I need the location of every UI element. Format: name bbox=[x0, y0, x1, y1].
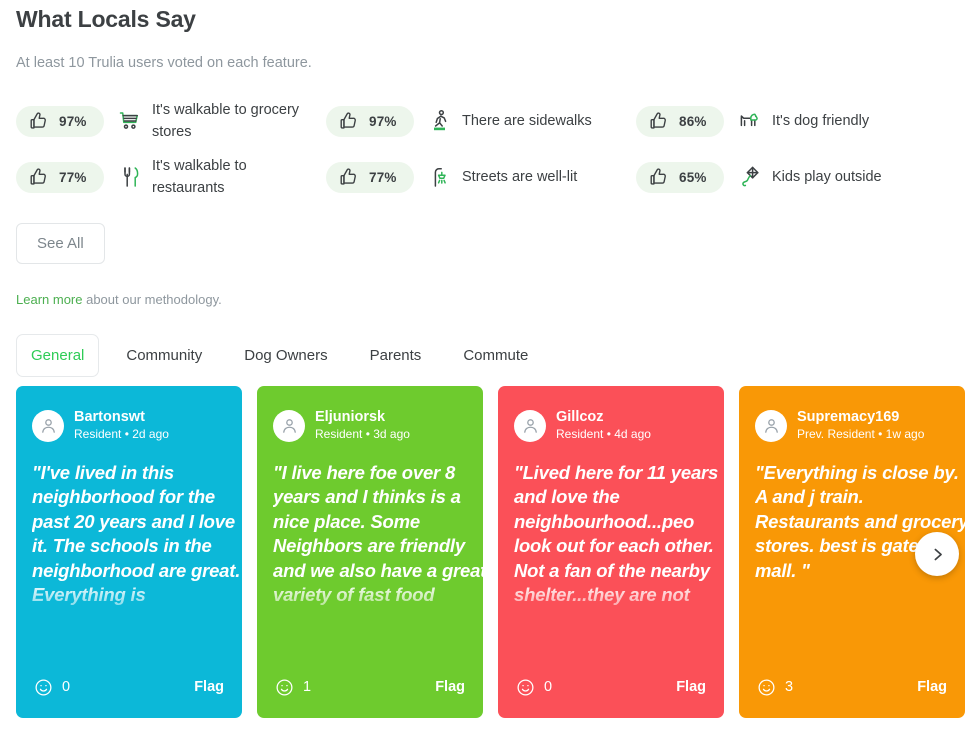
thumbs-up-icon bbox=[648, 166, 670, 188]
feature-vote-item: 97%It's walkable to grocery stores bbox=[16, 99, 326, 144]
feature-vote-pill: 97% bbox=[16, 106, 104, 137]
review-username: Bartonswt bbox=[74, 409, 145, 425]
feature-vote-percent: 86% bbox=[679, 114, 707, 129]
review-meta: Prev. Resident • 1w ago bbox=[797, 426, 924, 443]
reaction-button[interactable]: 0 bbox=[516, 678, 552, 697]
review-username: Supremacy169 bbox=[797, 409, 899, 425]
avatar bbox=[514, 410, 546, 442]
chevron-right-icon bbox=[929, 546, 946, 563]
thumbs-up-icon bbox=[28, 166, 50, 188]
smiley-icon bbox=[757, 678, 776, 697]
feature-vote-item: 86%It's dog friendly bbox=[636, 106, 946, 137]
review-category-tabs: GeneralCommunityDog OwnersParentsCommute bbox=[16, 334, 956, 377]
review-meta: Resident • 3d ago bbox=[315, 426, 410, 443]
review-card[interactable]: EljuniorskResident • 3d ago"I live here … bbox=[257, 386, 483, 718]
review-meta: Resident • 4d ago bbox=[556, 426, 651, 443]
methodology-text: about our methodology. bbox=[82, 292, 221, 307]
what-locals-say-section: What Locals Say At least 10 Trulia users… bbox=[0, 0, 972, 735]
reaction-count: 1 bbox=[303, 679, 311, 695]
review-meta: Resident • 2d ago bbox=[74, 426, 169, 443]
thumbs-up-icon bbox=[648, 110, 670, 132]
feature-vote-pill: 97% bbox=[326, 106, 414, 137]
feature-vote-item: 97%There are sidewalks bbox=[326, 106, 636, 137]
review-card[interactable]: GillcozResident • 4d ago"Lived here for … bbox=[498, 386, 724, 718]
review-quote: "I've lived in this neighborhood for the… bbox=[32, 461, 242, 636]
review-card[interactable]: BartonswtResident • 2d ago"I've lived in… bbox=[16, 386, 242, 718]
feature-vote-percent: 77% bbox=[369, 170, 397, 185]
review-author: Supremacy169Prev. Resident • 1w ago bbox=[739, 386, 965, 444]
review-footer: 0Flag bbox=[498, 656, 724, 718]
reaction-count: 3 bbox=[785, 679, 793, 695]
reaction-button[interactable]: 1 bbox=[275, 678, 311, 697]
feature-vote-pill: 77% bbox=[326, 162, 414, 193]
person-icon bbox=[521, 416, 540, 435]
feature-vote-pill: 86% bbox=[636, 106, 724, 137]
feature-label: It's walkable to restaurants bbox=[152, 155, 302, 200]
feature-label: Kids play outside bbox=[772, 166, 882, 188]
feature-vote-pill: 65% bbox=[636, 162, 724, 193]
page-subtitle: At least 10 Trulia users voted on each f… bbox=[16, 55, 956, 71]
review-author: EljuniorskResident • 3d ago bbox=[257, 386, 483, 444]
smiley-icon bbox=[275, 678, 294, 697]
review-quote: "Lived here for 11 years and love the ne… bbox=[514, 461, 724, 636]
reaction-button[interactable]: 0 bbox=[34, 678, 70, 697]
review-footer: 3Flag bbox=[739, 656, 965, 718]
reaction-count: 0 bbox=[62, 679, 70, 695]
streetlamp-icon bbox=[427, 164, 453, 190]
review-card-carousel: BartonswtResident • 2d ago"I've lived in… bbox=[16, 386, 972, 718]
methodology-note: Learn more about our methodology. bbox=[16, 292, 956, 307]
carousel-next-button[interactable] bbox=[915, 532, 959, 576]
feature-vote-item: 77%It's walkable to restaurants bbox=[16, 155, 326, 200]
avatar bbox=[273, 410, 305, 442]
review-quote: "I live here foe over 8 years and I thin… bbox=[273, 461, 483, 636]
review-footer: 1Flag bbox=[257, 656, 483, 718]
review-author: BartonswtResident • 2d ago bbox=[16, 386, 242, 444]
review-username: Eljuniorsk bbox=[315, 409, 385, 425]
shopping-cart-icon bbox=[117, 108, 143, 134]
walking-person-icon bbox=[427, 108, 453, 134]
feature-vote-grid: 97%It's walkable to grocery stores97%The… bbox=[16, 93, 956, 205]
kite-icon bbox=[737, 164, 763, 190]
smiley-icon bbox=[34, 678, 53, 697]
reaction-button[interactable]: 3 bbox=[757, 678, 793, 697]
flag-button[interactable]: Flag bbox=[194, 679, 224, 695]
feature-label: It's walkable to grocery stores bbox=[152, 99, 302, 144]
feature-vote-percent: 97% bbox=[59, 114, 87, 129]
feature-vote-percent: 97% bbox=[369, 114, 397, 129]
tab-commute[interactable]: Commute bbox=[448, 334, 543, 377]
avatar bbox=[755, 410, 787, 442]
thumbs-up-icon bbox=[338, 110, 360, 132]
feature-label: There are sidewalks bbox=[462, 110, 592, 132]
feature-vote-item: 65%Kids play outside bbox=[636, 162, 946, 193]
see-all-button[interactable]: See All bbox=[16, 223, 105, 264]
feature-vote-pill: 77% bbox=[16, 162, 104, 193]
tab-parents[interactable]: Parents bbox=[355, 334, 437, 377]
flag-button[interactable]: Flag bbox=[676, 679, 706, 695]
smiley-icon bbox=[516, 678, 535, 697]
reaction-count: 0 bbox=[544, 679, 552, 695]
page-title: What Locals Say bbox=[16, 0, 956, 33]
person-icon bbox=[280, 416, 299, 435]
learn-more-link[interactable]: Learn more bbox=[16, 292, 82, 307]
avatar bbox=[32, 410, 64, 442]
fork-knife-icon bbox=[117, 164, 143, 190]
feature-vote-item: 77%Streets are well-lit bbox=[326, 162, 636, 193]
dog-icon bbox=[737, 108, 763, 134]
person-icon bbox=[762, 416, 781, 435]
flag-button[interactable]: Flag bbox=[917, 679, 947, 695]
review-author: GillcozResident • 4d ago bbox=[498, 386, 724, 444]
feature-vote-percent: 77% bbox=[59, 170, 87, 185]
flag-button[interactable]: Flag bbox=[435, 679, 465, 695]
feature-label: It's dog friendly bbox=[772, 110, 869, 132]
feature-vote-percent: 65% bbox=[679, 170, 707, 185]
feature-label: Streets are well-lit bbox=[462, 166, 577, 188]
tab-community[interactable]: Community bbox=[111, 334, 217, 377]
person-icon bbox=[39, 416, 58, 435]
tab-dog-owners[interactable]: Dog Owners bbox=[229, 334, 342, 377]
tab-general[interactable]: General bbox=[16, 334, 99, 377]
thumbs-up-icon bbox=[338, 166, 360, 188]
review-username: Gillcoz bbox=[556, 409, 604, 425]
review-footer: 0Flag bbox=[16, 656, 242, 718]
thumbs-up-icon bbox=[28, 110, 50, 132]
